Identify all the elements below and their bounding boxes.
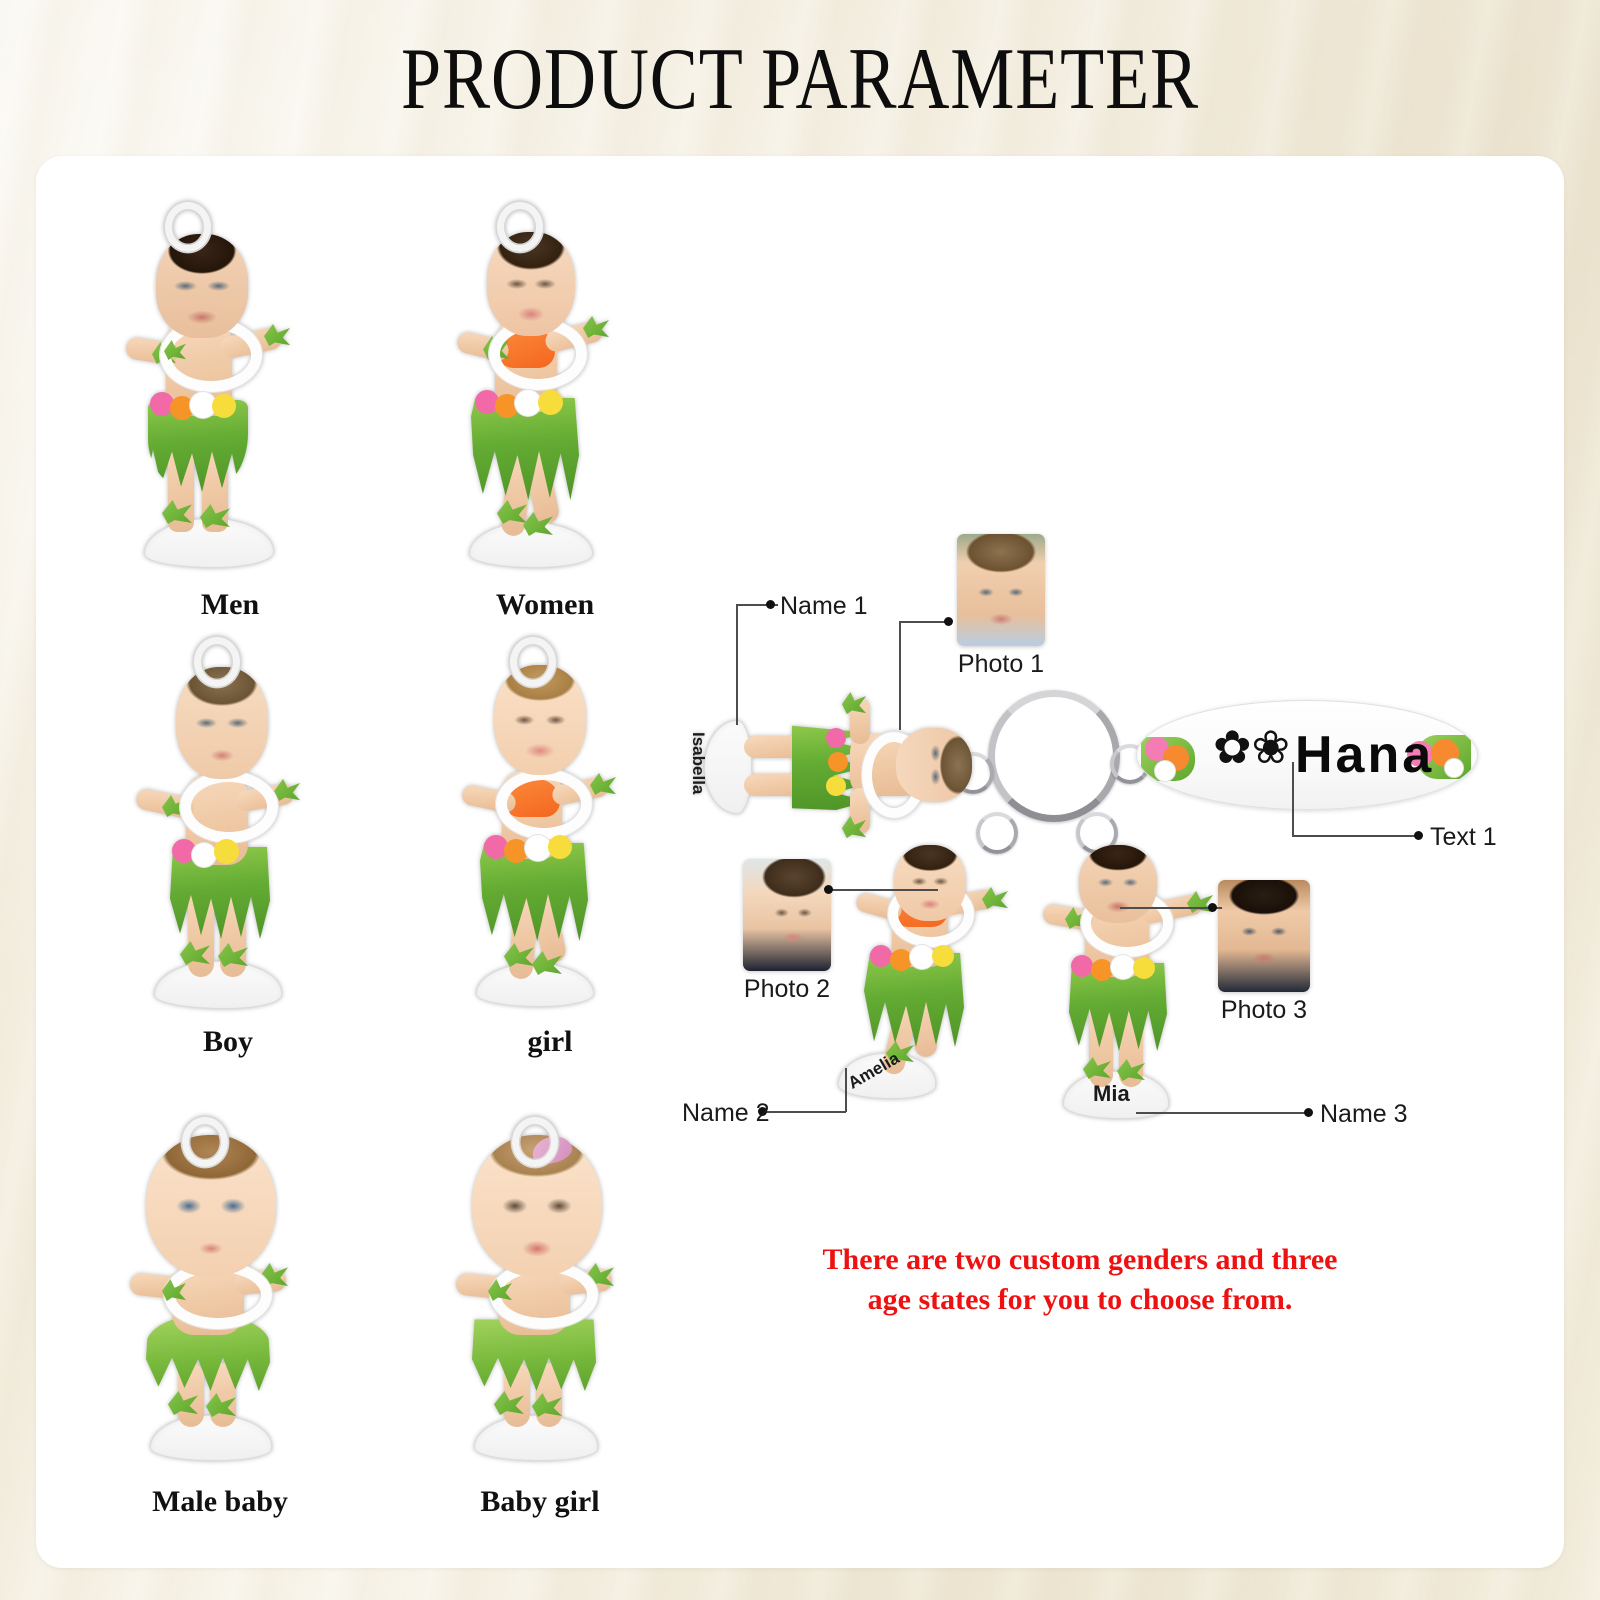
waist-flower — [538, 390, 563, 415]
hanging-loop-icon — [194, 637, 240, 687]
charm-label-women: Women — [435, 588, 655, 622]
face-photo-charm-amelia — [894, 845, 966, 921]
acrylic-charm-male-baby — [110, 1115, 330, 1495]
name-tag-surfboard[interactable]: ✿❀ Hana — [1136, 700, 1478, 810]
leader-dot-photo-1 — [944, 617, 953, 626]
engraved-name-mia: Mia — [1093, 1081, 1130, 1107]
acrylic-charm-amelia: Amelia — [850, 845, 1040, 1115]
leader-dot-name-3 — [1304, 1108, 1313, 1117]
leader-line-text-1-v — [1292, 762, 1294, 836]
charm-label-male-baby: Male baby — [110, 1485, 330, 1519]
charm-base — [154, 961, 282, 1009]
leader-line-name-2-v — [845, 1068, 847, 1112]
charm-card-male-baby: Male baby — [110, 1115, 330, 1535]
charm-base — [474, 1415, 598, 1461]
waist-flower — [932, 945, 954, 967]
charm-card-girl: girl — [440, 635, 660, 1055]
leader-line-name-1-v — [736, 605, 738, 725]
waist-flower — [1091, 959, 1113, 981]
waist-flower — [212, 394, 236, 418]
charm-label-men: Men — [120, 588, 340, 622]
waist-flower — [910, 945, 934, 969]
acrylic-charm-girl — [440, 635, 660, 1015]
charm-label-girl: girl — [440, 1025, 660, 1059]
acrylic-charm-baby-girl — [430, 1115, 650, 1495]
charm-card-women: Women — [435, 200, 655, 620]
acrylic-charm-women — [435, 200, 655, 580]
hanging-loop-icon — [165, 202, 211, 252]
face-photo-men — [156, 234, 248, 338]
engraved-name-isabella: Isabella — [688, 732, 708, 794]
hanging-loop-icon — [497, 202, 543, 252]
keyring-charm-amelia: Amelia — [850, 845, 1040, 1115]
leader-dot-photo-3 — [1208, 903, 1217, 912]
charm-label-baby-girl: Baby girl — [430, 1485, 650, 1519]
waist-flower — [870, 945, 892, 967]
photo-thumbnail-1[interactable] — [957, 534, 1045, 646]
photo-caption-2: Photo 2 — [735, 975, 839, 1004]
floral-scroll-icon: ✿❀ — [1213, 725, 1290, 771]
acrylic-charm-mia: Mia — [1035, 845, 1235, 1135]
keyring-charm-mia: Mia — [1035, 845, 1235, 1135]
page-title: PRODUCT PARAMETER — [144, 34, 1456, 126]
photo-caption-1: Photo 1 — [957, 650, 1045, 679]
leader-dot-name-1 — [766, 600, 775, 609]
leader-dot-text-1 — [1414, 831, 1423, 840]
charm-card-men: Men — [120, 200, 340, 620]
leader-line-photo-3-h — [1120, 907, 1222, 909]
waist-flower — [826, 776, 846, 796]
split-keyring — [988, 690, 1120, 822]
name-tag-text: Hana — [1295, 725, 1434, 785]
photo-thumbnail-2[interactable] — [743, 859, 831, 971]
flower-lei — [496, 769, 592, 839]
waist-flower — [828, 752, 848, 772]
leader-dot-photo-2 — [824, 885, 833, 894]
charm-base — [150, 1415, 272, 1461]
wrist-leaf — [583, 316, 609, 338]
waist-flower — [548, 835, 572, 859]
flower-lei — [180, 771, 278, 843]
hanging-loop-icon — [510, 637, 556, 687]
callout-label-name-1: Name 1 — [780, 592, 868, 621]
charm-card-baby-girl: Baby girl — [430, 1115, 650, 1535]
hanging-loop-icon — [512, 1117, 558, 1167]
grass-skirt — [864, 953, 964, 1047]
tag-flower-white-left — [1155, 761, 1175, 781]
callout-label-name-2: Name 2 — [682, 1099, 770, 1128]
waist-flower — [1133, 957, 1155, 979]
callout-label-name-3: Name 3 — [1320, 1100, 1408, 1129]
callout-label-text-1: Text 1 — [1430, 823, 1497, 852]
waist-flower — [1111, 955, 1135, 979]
leader-line-name-2-h — [764, 1111, 846, 1113]
photo-caption-3: Photo 3 — [1212, 996, 1316, 1025]
hanging-loop-icon — [182, 1117, 228, 1167]
face-photo-charm-isabella — [896, 728, 972, 802]
leader-line-name-3-h — [1136, 1112, 1310, 1114]
wrist-leaf — [590, 773, 616, 795]
leader-line-photo-2-h — [828, 889, 938, 891]
acrylic-charm-boy — [118, 635, 338, 1015]
charm-label-boy: Boy — [118, 1025, 338, 1059]
waist-flower — [826, 728, 846, 748]
leader-line-photo-1-v — [899, 622, 901, 730]
face-photo-charm-mia — [1079, 845, 1157, 923]
charm-base — [704, 720, 752, 814]
waist-flower — [1071, 955, 1093, 977]
photo-thumbnail-3[interactable] — [1218, 880, 1310, 992]
acrylic-charm-men — [120, 200, 340, 580]
waist-flower — [192, 843, 216, 867]
waist-flower — [890, 949, 912, 971]
charm-card-boy: Boy — [118, 635, 338, 1055]
leader-line-text-1-h — [1292, 835, 1420, 837]
wrist-leaf — [274, 779, 300, 801]
custom-options-note: There are two custom genders and three a… — [790, 1240, 1370, 1319]
tag-flower-white-right — [1445, 759, 1463, 777]
waist-flower — [214, 839, 239, 864]
